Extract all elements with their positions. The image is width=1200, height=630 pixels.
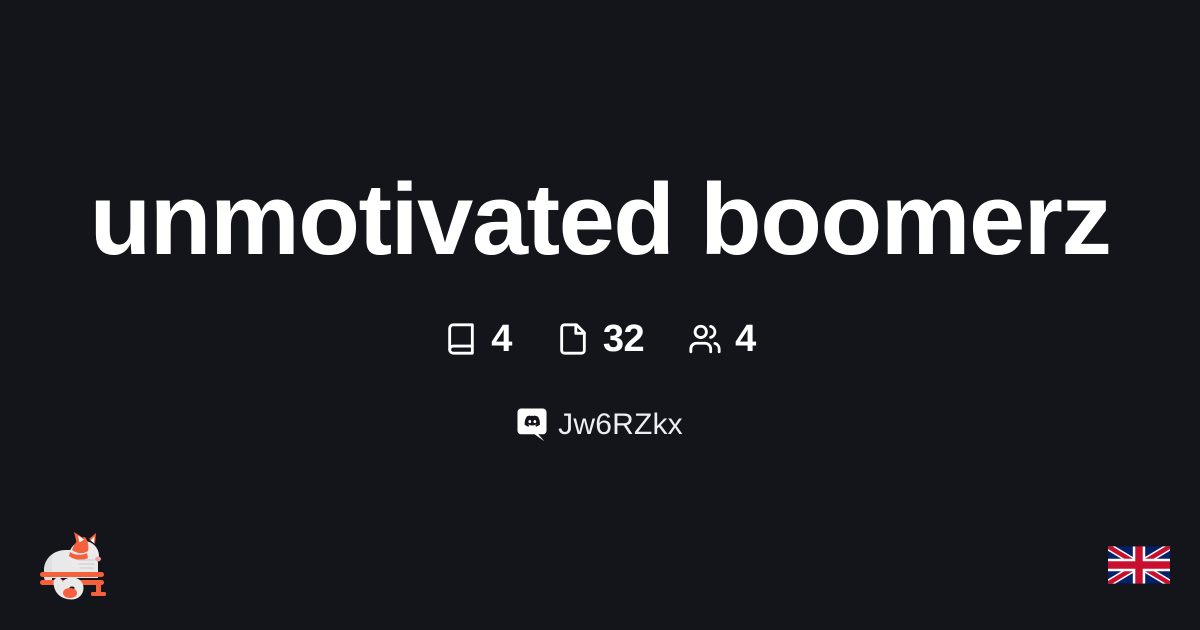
uk-flag-icon[interactable] bbox=[1108, 545, 1170, 585]
cat-logo-icon[interactable] bbox=[32, 530, 112, 600]
stats-row: 4 32 4 bbox=[0, 320, 1200, 358]
stat-members-value: 4 bbox=[735, 320, 756, 358]
page-title-container: unmotivated boomerz bbox=[0, 168, 1200, 273]
discord-invite-code: Jw6RZkx bbox=[558, 410, 683, 440]
page-title: unmotivated boomerz bbox=[90, 168, 1111, 273]
discord-icon bbox=[517, 408, 547, 442]
stat-chapters-value: 32 bbox=[603, 320, 644, 358]
stat-members: 4 bbox=[688, 320, 756, 358]
stat-books-value: 4 bbox=[491, 320, 512, 358]
stat-books: 4 bbox=[444, 320, 512, 358]
users-icon bbox=[688, 322, 722, 356]
stat-chapters: 32 bbox=[556, 320, 644, 358]
file-icon bbox=[556, 322, 590, 356]
og-card: unmotivated boomerz 4 32 bbox=[0, 0, 1200, 630]
book-icon bbox=[444, 322, 478, 356]
discord-invite[interactable]: Jw6RZkx bbox=[0, 408, 1200, 442]
